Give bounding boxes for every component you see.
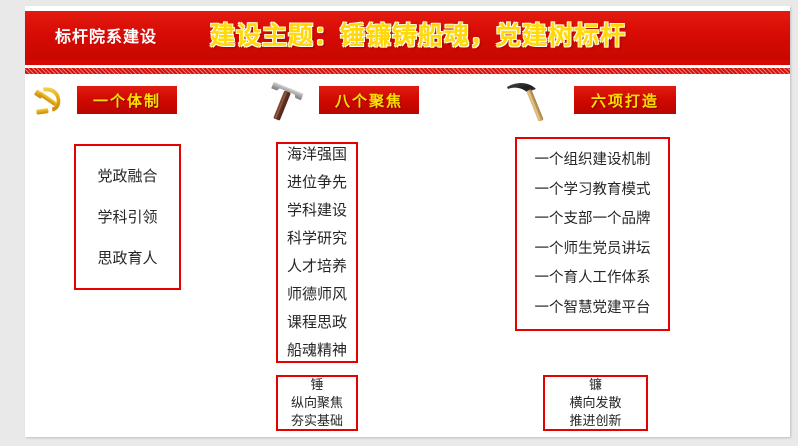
content-box-focus: 海洋强国 进位争先 学科建设 科学研究 人才培养 师德师风 课程思政 船魂精神 (276, 142, 358, 363)
box-line: 人才培养 (287, 259, 347, 274)
box-line: 党政融合 (97, 169, 157, 184)
category-label-focus[interactable]: 八个聚焦 (319, 86, 419, 114)
box-line: 一个师生党员讲坛 (535, 242, 651, 257)
sickle-icon (503, 78, 567, 126)
box-line: 科学研究 (287, 231, 347, 246)
content-box-system: 党政融合 学科引领 思政育人 (74, 144, 181, 290)
header-band: 标杆院系建设 建设主题：锤镰铸船魂，党建树标杆 (25, 11, 790, 60)
box-line: 课程思政 (287, 315, 347, 330)
party-emblem-icon (25, 79, 73, 123)
box-line: 一个组织建设机制 (535, 153, 651, 168)
page-title: 建设主题：锤镰铸船魂，党建树标杆 (210, 16, 626, 52)
category-label-system[interactable]: 一个体制 (77, 86, 177, 114)
box-line: 横向发散 (569, 397, 621, 410)
hammer-icon (255, 78, 313, 126)
box-line: 纵向聚焦 (291, 397, 343, 410)
box-line: 一个育人工作体系 (535, 271, 651, 286)
box-line: 学科建设 (287, 203, 347, 218)
box-line: 船魂精神 (287, 343, 347, 358)
box-line: 锤 (310, 379, 323, 392)
box-line: 进位争先 (287, 175, 347, 190)
box-line: 镰 (589, 379, 602, 392)
box-line: 学科引领 (97, 210, 157, 225)
box-line: 一个支部一个品牌 (535, 212, 651, 227)
box-line: 师德师风 (287, 287, 347, 302)
header-left-title: 标杆院系建设 (55, 23, 157, 47)
category-label-build[interactable]: 六项打造 (574, 86, 676, 114)
box-line: 一个学习教育模式 (535, 183, 651, 198)
summary-box-sickle: 镰 横向发散 推进创新 (543, 375, 648, 431)
content-box-build: 一个组织建设机制 一个学习教育模式 一个支部一个品牌 一个师生党员讲坛 一个育人… (515, 137, 670, 331)
box-line: 思政育人 (97, 251, 157, 266)
slide-canvas: 标杆院系建设 建设主题：锤镰铸船魂，党建树标杆 一个体制 (25, 6, 790, 437)
box-line: 一个智慧党建平台 (535, 301, 651, 316)
box-line: 夯实基础 (291, 415, 343, 428)
header-stripe-hatch (25, 68, 790, 74)
box-line: 海洋强国 (287, 147, 347, 162)
summary-box-hammer: 锤 纵向聚焦 夯实基础 (276, 375, 358, 431)
box-line: 推进创新 (569, 415, 621, 428)
